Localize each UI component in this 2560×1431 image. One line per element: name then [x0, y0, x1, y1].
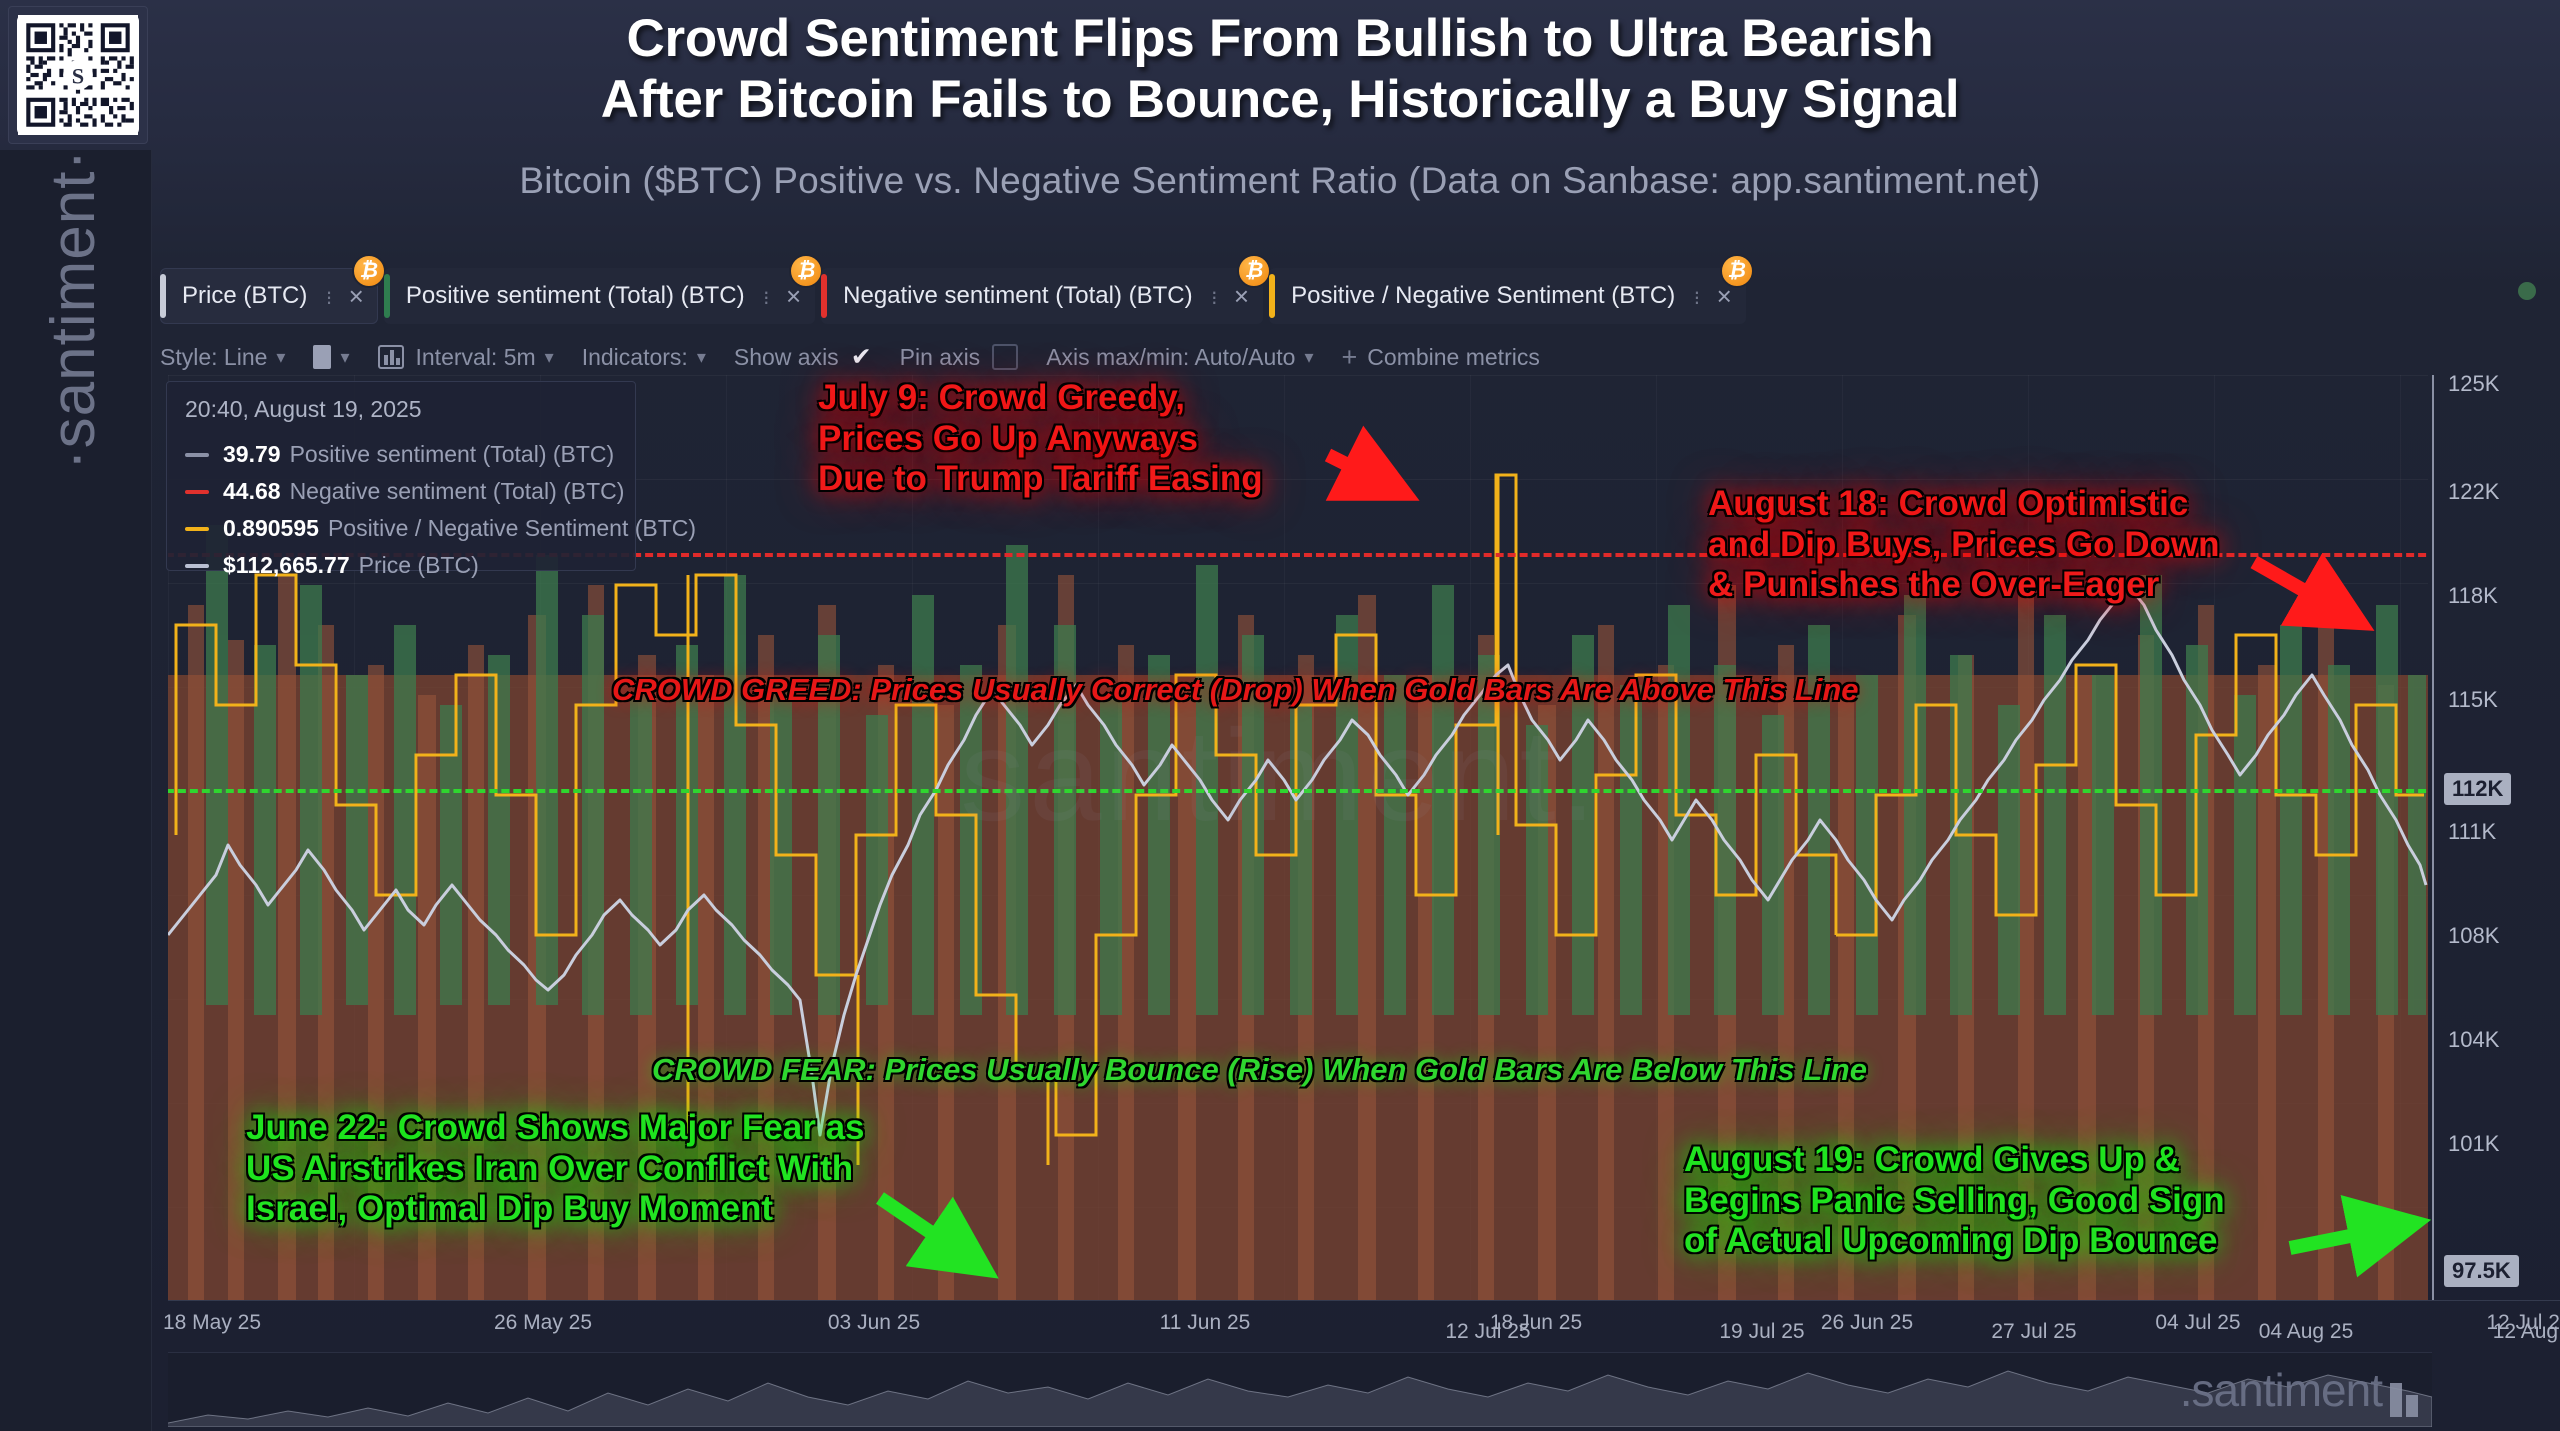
bitcoin-coin-icon: ₿	[1720, 254, 1754, 288]
bitcoin-coin-icon: ₿	[1237, 254, 1271, 288]
tab-menu-icon[interactable]: ···	[325, 289, 332, 304]
y-tick: 115K	[2448, 687, 2498, 713]
metric-tab-price[interactable]: Price (BTC) ··· × ₿	[160, 268, 378, 324]
metric-tab-negative-sentiment[interactable]: Negative sentiment (Total) (BTC) ··· × ₿	[821, 268, 1263, 324]
color-swatch-icon	[313, 345, 331, 369]
axis-minmax-select[interactable]: Axis max/min: Auto/Auto ▾	[1046, 344, 1313, 371]
page-title: Crowd Sentiment Flips From Bullish to Ul…	[0, 8, 2560, 131]
chevron-down-icon: ▾	[1304, 347, 1313, 368]
tab-accent-bar	[1269, 274, 1275, 318]
crowd-greed-label: CROWD GREED: Prices Usually Correct (Dro…	[612, 672, 1859, 708]
page-title-line2: After Bitcoin Fails to Bounce, Historica…	[0, 69, 2560, 130]
legend-color-dash	[185, 564, 209, 568]
metric-tab-label: Positive / Negative Sentiment (BTC)	[1285, 282, 1675, 310]
tab-accent-bar	[821, 274, 827, 318]
y-tick: 101K	[2448, 1131, 2499, 1157]
y-tick: 122K	[2448, 479, 2499, 505]
chevron-down-icon: ▾	[340, 347, 349, 368]
legend-color-dash	[185, 490, 209, 494]
y-tick: 125K	[2448, 371, 2499, 397]
tab-accent-bar	[160, 274, 166, 318]
metric-tab-label: Negative sentiment (Total) (BTC)	[837, 282, 1192, 310]
x-tick: 04 Aug 25	[2259, 1320, 2354, 1344]
legend-label: Negative sentiment (Total) (BTC)	[290, 478, 625, 505]
chevron-down-icon: ▾	[545, 347, 554, 368]
checkmark-icon: ✔	[851, 342, 872, 372]
crowd-fear-label: CROWD FEAR: Prices Usually Bounce (Rise)…	[652, 1052, 1867, 1088]
legend-label: Positive sentiment (Total) (BTC)	[290, 441, 615, 468]
plus-icon: +	[1342, 342, 1358, 373]
x-tick: 12 Jul 25	[1445, 1320, 1530, 1344]
metric-tab-pos-neg-ratio[interactable]: Positive / Negative Sentiment (BTC) ··· …	[1269, 268, 1746, 324]
santiment-logo-text: .santiment	[2180, 1363, 2382, 1417]
show-axis-label: Show axis	[734, 344, 839, 371]
color-select[interactable]: ▾	[313, 345, 349, 369]
bar-chart-icon	[378, 345, 404, 369]
tab-accent-bar	[384, 274, 390, 318]
chevron-down-icon: ▾	[276, 347, 285, 368]
x-tick: 27 Jul 25	[1991, 1320, 2076, 1344]
indicators-select[interactable]: Indicators: ▾	[582, 344, 706, 371]
page-title-line1: Crowd Sentiment Flips From Bullish to Ul…	[0, 8, 2560, 69]
chart-range-navigator[interactable]: .santiment	[168, 1352, 2432, 1427]
metric-tabs: Price (BTC) ··· × ₿ Positive sentiment (…	[160, 268, 1752, 326]
metric-tab-label: Positive sentiment (Total) (BTC)	[400, 282, 745, 310]
indicators-label: Indicators:	[582, 344, 688, 371]
legend-value: 44.68	[223, 478, 281, 505]
annotation-august-19: August 19: Crowd Gives Up & Begins Panic…	[1684, 1140, 2225, 1262]
date-x-axis-overflow: 12 Jul 25 19 Jul 25 27 Jul 25 04 Aug 25 …	[168, 1310, 2560, 1348]
pin-axis-label: Pin axis	[900, 344, 981, 371]
axis-minmax-label: Axis max/min: Auto/Auto	[1046, 344, 1295, 371]
tab-menu-icon[interactable]: ···	[1211, 289, 1218, 304]
metric-tab-label: Price (BTC)	[176, 282, 307, 310]
legend-label: Positive / Negative Sentiment (BTC)	[328, 515, 696, 542]
show-axis-toggle[interactable]: Show axis ✔	[734, 342, 872, 372]
tooltip-timestamp: 20:40, August 19, 2025	[185, 396, 617, 423]
y-tick: 111K	[2448, 819, 2496, 845]
tab-menu-icon[interactable]: ···	[763, 289, 770, 304]
santiment-logo-mark	[2390, 1383, 2418, 1417]
center-watermark: santiment.	[0, 700, 2560, 850]
pin-axis-checkbox[interactable]	[992, 344, 1018, 370]
price-y-axis[interactable]: 125K 122K 118K 115K 112K 111K 108K 104K …	[2432, 375, 2560, 1300]
legend-row-negative: 44.68 Negative sentiment (Total) (BTC)	[185, 478, 617, 505]
legend-color-dash	[185, 527, 209, 531]
style-select[interactable]: Style: Line ▾	[160, 344, 285, 371]
legend-label: Price (BTC)	[359, 552, 479, 579]
chevron-down-icon: ▾	[697, 347, 706, 368]
bitcoin-coin-icon: ₿	[352, 254, 386, 288]
combine-metrics-label: Combine metrics	[1367, 344, 1540, 371]
interval-label: Interval: 5m	[416, 344, 536, 371]
y-tick: 118K	[2448, 583, 2498, 609]
annotation-august-18: August 18: Crowd Optimistic and Dip Buys…	[1708, 484, 2219, 606]
santiment-logo: .santiment	[2180, 1363, 2418, 1417]
legend-row-price: $112,665.77 Price (BTC)	[185, 552, 617, 579]
tab-menu-icon[interactable]: ···	[1693, 289, 1700, 304]
legend-row-positive: 39.79 Positive sentiment (Total) (BTC)	[185, 441, 617, 468]
status-indicator-dot	[2518, 282, 2536, 300]
legend-color-dash	[185, 453, 209, 457]
y-tick: 108K	[2448, 923, 2499, 949]
x-tick: 12 Aug 25	[2493, 1320, 2560, 1344]
y-tick: 97.5K	[2444, 1255, 2519, 1287]
annotation-june-22: June 22: Crowd Shows Major Fear as US Ai…	[246, 1108, 865, 1230]
combine-metrics-button[interactable]: + Combine metrics	[1342, 342, 1540, 373]
legend-value: 0.890595	[223, 515, 319, 542]
bitcoin-coin-icon: ₿	[789, 254, 823, 288]
page-subtitle: Bitcoin ($BTC) Positive vs. Negative Sen…	[0, 160, 2560, 202]
annotation-july-9: July 9: Crowd Greedy, Prices Go Up Anywa…	[818, 378, 1263, 500]
style-select-label: Style: Line	[160, 344, 267, 371]
pin-axis-toggle[interactable]: Pin axis	[900, 344, 1019, 371]
y-tick-current-price: 112K	[2444, 773, 2511, 805]
interval-select[interactable]: Interval: 5m ▾	[378, 344, 554, 371]
chart-controls-toolbar: Style: Line ▾ ▾ Interval: 5m ▾ Indicator…	[160, 338, 1568, 376]
navigator-preview	[168, 1353, 2432, 1427]
metric-tab-positive-sentiment[interactable]: Positive sentiment (Total) (BTC) ··· × ₿	[384, 268, 815, 324]
legend-row-ratio: 0.890595 Positive / Negative Sentiment (…	[185, 515, 617, 542]
chart-tooltip-legend: 20:40, August 19, 2025 39.79 Positive se…	[166, 381, 636, 571]
legend-value: $112,665.77	[223, 552, 350, 579]
y-tick: 104K	[2448, 1027, 2499, 1053]
x-tick: 19 Jul 25	[1719, 1320, 1804, 1344]
legend-value: 39.79	[223, 441, 281, 468]
